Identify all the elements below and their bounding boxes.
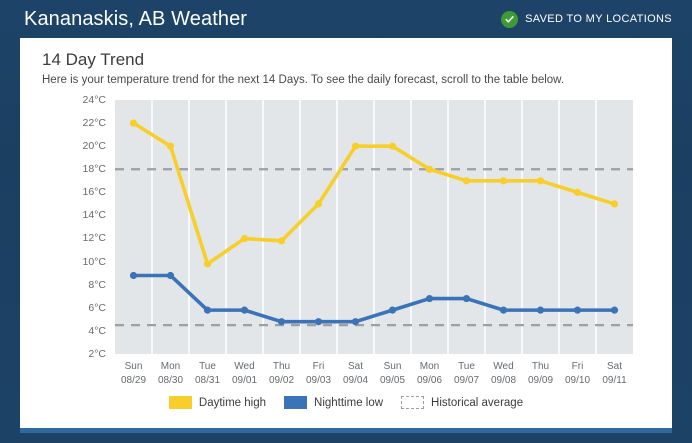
x-tick-date: 09/04 — [343, 374, 368, 388]
series-data-point — [204, 306, 211, 313]
series-data-point — [611, 306, 618, 313]
x-axis-tick-label: Sat09/04 — [343, 360, 368, 388]
x-axis-tick-label: Tue09/07 — [454, 360, 479, 388]
x-tick-day: Sat — [343, 360, 368, 374]
x-axis-tick-label: Wed09/01 — [232, 360, 257, 388]
x-tick-day: Sun — [380, 360, 405, 374]
x-tick-date: 09/07 — [454, 374, 479, 388]
y-axis-tick-label: 8°C — [46, 279, 106, 291]
series-data-point — [426, 295, 433, 302]
x-axis-tick-label: Fri09/10 — [565, 360, 590, 388]
legend-item[interactable]: Historical average — [401, 396, 523, 409]
x-axis-ticks: Sun08/29Mon08/30Tue08/31Wed09/01Thu09/02… — [115, 360, 633, 394]
chart-legend: Daytime highNighttime lowHistorical aver… — [20, 396, 672, 409]
x-axis-tick-label: Mon08/30 — [158, 360, 183, 388]
series-data-point — [278, 237, 285, 244]
x-axis-tick-label: Fri09/03 — [306, 360, 331, 388]
series-data-point — [463, 177, 470, 184]
x-tick-day: Fri — [306, 360, 331, 374]
y-axis-tick-label: 18°C — [46, 163, 106, 175]
x-axis-tick-label: Sun09/05 — [380, 360, 405, 388]
y-axis-tick-label: 16°C — [46, 186, 106, 198]
x-tick-day: Wed — [232, 360, 257, 374]
legend-item[interactable]: Nighttime low — [284, 396, 383, 409]
series-data-point — [352, 143, 359, 150]
x-tick-day: Thu — [528, 360, 553, 374]
legend-item[interactable]: Daytime high — [169, 396, 266, 409]
x-tick-date: 09/10 — [565, 374, 590, 388]
series-data-point — [167, 272, 174, 279]
y-axis-tick-label: 20°C — [46, 140, 106, 152]
card-subtitle: Here is your temperature trend for the n… — [42, 73, 654, 88]
series-data-point — [537, 177, 544, 184]
x-tick-date: 09/03 — [306, 374, 331, 388]
chart-plot-area — [115, 100, 633, 354]
weather-page: Kananaskis, AB Weather SAVED TO MY LOCAT… — [0, 0, 692, 443]
x-tick-day: Sun — [121, 360, 146, 374]
x-tick-date: 09/01 — [232, 374, 257, 388]
series-data-point — [130, 119, 137, 126]
x-tick-date: 09/02 — [269, 374, 294, 388]
page-header: Kananaskis, AB Weather SAVED TO MY LOCAT… — [0, 0, 692, 38]
x-tick-date: 09/08 — [491, 374, 516, 388]
y-axis-tick-label: 4°C — [46, 325, 106, 337]
x-tick-date: 09/06 — [417, 374, 442, 388]
x-axis-tick-label: Thu09/09 — [528, 360, 553, 388]
series-data-point — [352, 318, 359, 325]
series-data-point — [537, 306, 544, 313]
y-axis-tick-label: 22°C — [46, 117, 106, 129]
legend-swatch — [401, 396, 424, 409]
series-data-point — [574, 306, 581, 313]
x-tick-date: 09/09 — [528, 374, 553, 388]
x-tick-date: 08/31 — [195, 374, 220, 388]
saved-to-locations-label: SAVED TO MY LOCATIONS — [525, 13, 672, 25]
x-tick-day: Tue — [195, 360, 220, 374]
saved-to-locations-status[interactable]: SAVED TO MY LOCATIONS — [501, 11, 672, 28]
x-tick-day: Mon — [158, 360, 183, 374]
series-data-point — [167, 143, 174, 150]
x-axis-tick-label: Wed09/08 — [491, 360, 516, 388]
x-tick-date: 08/29 — [121, 374, 146, 388]
x-axis-tick-label: Sun08/29 — [121, 360, 146, 388]
legend-swatch — [169, 396, 192, 409]
temperature-trend-chart: 24°C22°C20°C18°C16°C14°C12°C10°C8°C6°C4°… — [38, 94, 654, 394]
legend-label: Nighttime low — [314, 397, 383, 409]
y-axis-tick-label: 12°C — [46, 232, 106, 244]
y-axis-tick-label: 24°C — [46, 94, 106, 106]
x-axis-tick-label: Tue08/31 — [195, 360, 220, 388]
x-tick-date: 08/30 — [158, 374, 183, 388]
series-data-point — [315, 200, 322, 207]
y-axis-tick-label: 14°C — [46, 209, 106, 221]
y-axis-tick-label: 2°C — [46, 348, 106, 360]
series-data-point — [130, 272, 137, 279]
legend-label: Historical average — [431, 397, 523, 409]
series-data-point — [611, 200, 618, 207]
series-data-point — [315, 318, 322, 325]
x-tick-day: Tue — [454, 360, 479, 374]
series-data-point — [426, 166, 433, 173]
x-axis-tick-label: Mon09/06 — [417, 360, 442, 388]
bottom-accent-bar — [20, 428, 672, 433]
series-data-point — [389, 306, 396, 313]
series-data-point — [241, 235, 248, 242]
card-title: 14 Day Trend — [42, 50, 654, 70]
x-tick-day: Sat — [602, 360, 626, 374]
trend-card: 14 Day Trend Here is your temperature tr… — [20, 38, 672, 428]
chart-svg — [115, 100, 633, 354]
series-data-point — [278, 318, 285, 325]
x-axis-tick-label: Sat09/11 — [602, 360, 626, 388]
y-axis-tick-label: 6°C — [46, 302, 106, 314]
check-circle-icon — [501, 11, 518, 28]
series-data-point — [389, 143, 396, 150]
page-title: Kananaskis, AB Weather — [24, 8, 247, 31]
series-data-point — [204, 260, 211, 267]
series-data-point — [463, 295, 470, 302]
x-tick-day: Thu — [269, 360, 294, 374]
x-tick-day: Mon — [417, 360, 442, 374]
series-data-point — [500, 306, 507, 313]
series-data-point — [574, 189, 581, 196]
y-axis-tick-label: 10°C — [46, 256, 106, 268]
x-tick-date: 09/05 — [380, 374, 405, 388]
x-axis-tick-label: Thu09/02 — [269, 360, 294, 388]
series-data-point — [241, 306, 248, 313]
x-tick-day: Wed — [491, 360, 516, 374]
x-tick-date: 09/11 — [602, 374, 626, 388]
x-tick-day: Fri — [565, 360, 590, 374]
legend-swatch — [284, 396, 307, 409]
series-data-point — [500, 177, 507, 184]
legend-label: Daytime high — [199, 397, 266, 409]
